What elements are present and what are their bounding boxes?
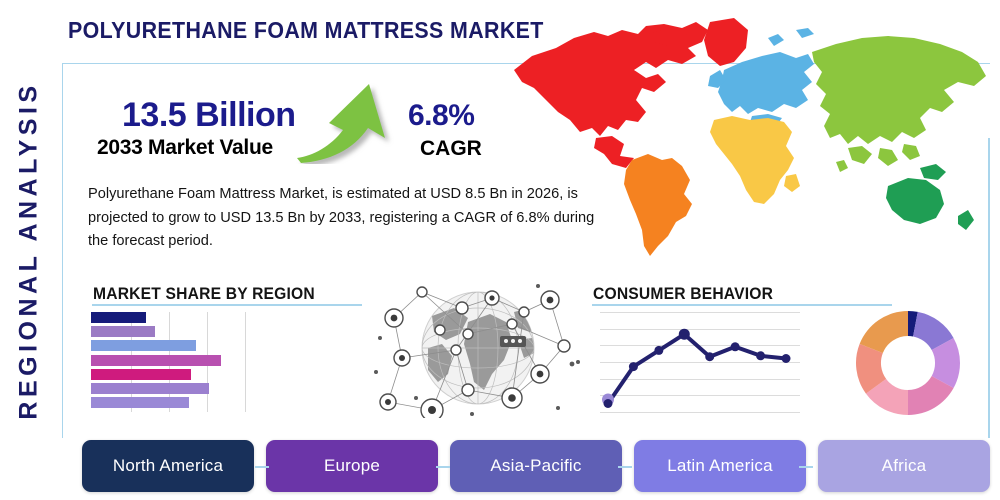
region-button-asia-pacific[interactable]: Asia-Pacific [450,440,622,492]
bar-chart-bar [91,312,146,323]
bar-chart-bar [91,340,196,351]
growth-arrow-icon [295,76,410,164]
global-network-globe-icon [372,278,584,418]
region-button-north-america[interactable]: North America [82,440,254,492]
region-connector [255,466,269,468]
region-connector [436,466,450,468]
line-gridline [600,412,800,413]
cagr-label: CAGR [420,137,482,161]
cagr-number: 6.8% [408,99,474,133]
region-button-europe[interactable]: Europe [266,440,438,492]
world-map-icon [496,8,996,270]
bar-chart-bar [91,369,191,380]
consumer-behavior-line-chart [600,312,800,412]
page-title: POLYURETHANE FOAM MATTRESS MARKET [68,17,544,44]
market-value-number: 13.5 Billion [122,96,296,135]
market-share-bar-chart [91,312,281,412]
donut-chart [853,308,963,418]
bar-chart-bar [91,383,209,394]
region-button-latin-america[interactable]: Latin America [634,440,806,492]
region-button-label: Europe [324,456,380,476]
infographic-root: REGIONAL ANALYSIS POLYURETHANE FOAM MATT… [0,0,1000,500]
bar-chart-bar [91,355,221,366]
region-button-label: Latin America [667,456,773,476]
market-value-label: 2033 Market Value [97,136,273,160]
region-button-label: Asia-Pacific [490,456,581,476]
bar-gridline [245,312,246,412]
region-button-label: North America [113,456,223,476]
side-label-text: REGIONAL ANALYSIS [15,81,44,419]
side-label: REGIONAL ANALYSIS [0,0,59,500]
region-button-africa[interactable]: Africa [818,440,990,492]
section-header-consumer-behavior: CONSUMER BEHAVIOR [593,284,773,304]
region-connector [799,466,813,468]
section-header-market-share: MARKET SHARE BY REGION [93,284,315,304]
region-button-bar: North AmericaEuropeAsia-PacificLatin Ame… [82,440,990,492]
section-rule-consumer-behavior [592,304,892,306]
region-connector [618,466,632,468]
section-rule-market-share [92,304,362,306]
bar-chart-bar [91,326,155,337]
region-button-label: Africa [882,456,927,476]
bar-chart-bar [91,397,189,408]
